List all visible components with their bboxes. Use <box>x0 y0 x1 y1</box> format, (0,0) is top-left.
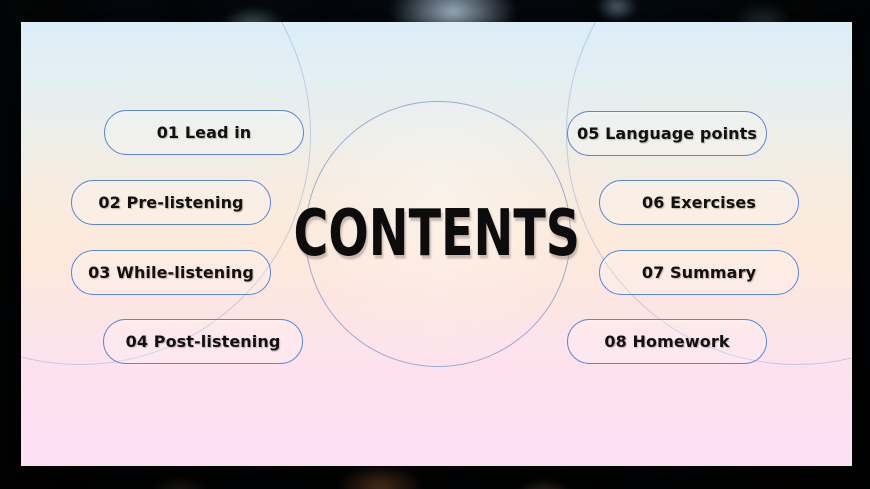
contents-heading-text: CONTENTS <box>294 196 581 271</box>
presentation-slide: CONTENTS 01 Lead in 02 Pre-listening 03 … <box>0 0 870 489</box>
contents-item-01[interactable]: 01 Lead in <box>104 110 304 155</box>
contents-item-02[interactable]: 02 Pre-listening <box>71 180 271 225</box>
contents-item-label: 05 Language points <box>577 124 757 143</box>
contents-item-03[interactable]: 03 While-listening <box>71 250 271 295</box>
contents-item-label: 01 Lead in <box>157 123 252 142</box>
contents-item-label: 03 While-listening <box>88 263 254 282</box>
page-title: CONTENTS <box>305 101 569 365</box>
contents-item-label: 02 Pre-listening <box>98 193 243 212</box>
contents-item-label: 08 Homework <box>604 332 729 351</box>
contents-item-06[interactable]: 06 Exercises <box>599 180 799 225</box>
contents-item-label: 07 Summary <box>642 263 756 282</box>
contents-item-04[interactable]: 04 Post-listening <box>103 319 303 364</box>
contents-item-label: 06 Exercises <box>642 193 756 212</box>
contents-item-05[interactable]: 05 Language points <box>567 111 767 156</box>
contents-item-label: 04 Post-listening <box>126 332 281 351</box>
contents-item-08[interactable]: 08 Homework <box>567 319 767 364</box>
contents-item-07[interactable]: 07 Summary <box>599 250 799 295</box>
slide-content-panel: CONTENTS 01 Lead in 02 Pre-listening 03 … <box>21 22 852 466</box>
